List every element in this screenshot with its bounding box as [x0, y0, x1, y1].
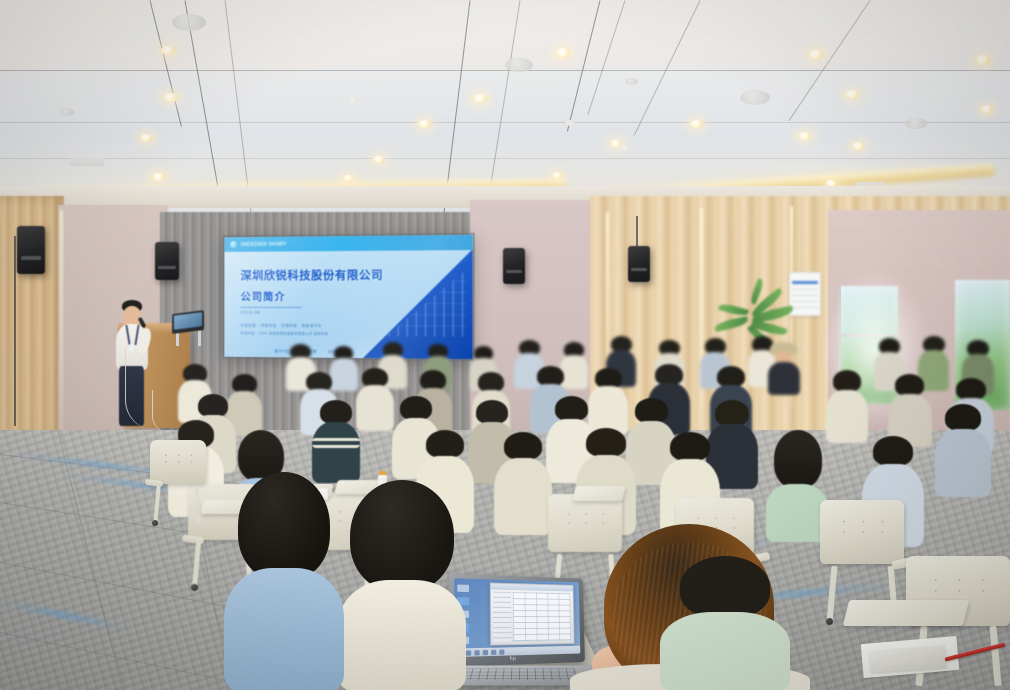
ceiling-downlight	[975, 55, 991, 65]
podium-cable	[152, 390, 168, 432]
attendee	[494, 432, 552, 534]
tablet-arm-desk	[572, 486, 626, 501]
ceiling-downlight	[163, 93, 179, 102]
attendee	[312, 400, 360, 482]
ceiling-downlight	[343, 175, 354, 182]
wall-speaker	[503, 248, 525, 284]
ceiling-speaker	[740, 90, 770, 105]
speaker-cable	[14, 236, 16, 426]
attendee-foreground-right	[660, 556, 790, 690]
taskbar-icon[interactable]	[499, 649, 504, 654]
ceiling-downlight	[160, 46, 176, 55]
notice-text-lines	[792, 289, 817, 309]
tablet-arm-desk	[843, 600, 969, 626]
slide-divider	[241, 307, 302, 308]
slide-company-title: 深圳欣锐科技股份有限公司	[241, 267, 384, 283]
spreadsheet-window[interactable]	[490, 582, 575, 645]
slide-header-bar: SHENZHEN SHINRY	[224, 235, 473, 252]
attendee-blue-shirt	[224, 472, 344, 690]
attendee-hair	[350, 480, 454, 592]
attendee	[826, 370, 868, 442]
laptop-display	[454, 578, 580, 657]
training-chair	[150, 440, 206, 528]
wall-light-strip	[60, 210, 63, 440]
attendee	[766, 430, 828, 540]
ceiling-downlight	[152, 173, 166, 181]
ceiling-downlight	[140, 134, 153, 142]
foreground-attendee-left	[338, 480, 466, 690]
window-sidebar[interactable]	[493, 592, 511, 642]
speaker-cable	[636, 216, 638, 248]
wall-speaker	[155, 242, 179, 280]
lectern-laptop	[172, 312, 204, 332]
presenter-head	[123, 306, 141, 326]
ceiling-downlight	[555, 48, 571, 58]
ceiling-downlight	[373, 156, 385, 163]
attendee-hair	[238, 472, 330, 580]
wall-speaker	[17, 226, 45, 274]
ceiling-downlight	[418, 120, 431, 128]
ceiling-downlight	[620, 145, 629, 151]
ceiling-downlight	[473, 94, 488, 103]
wall-speaker	[628, 246, 650, 282]
taskbar-icon[interactable]	[474, 650, 479, 655]
attendee-long-hair	[774, 430, 822, 488]
ceiling-downlight	[808, 50, 824, 60]
ceiling-speaker	[172, 14, 206, 31]
bottle-cap	[379, 471, 386, 475]
lectern-support	[198, 330, 201, 346]
smoke-detector	[60, 108, 74, 116]
ceiling-downlight	[552, 172, 563, 179]
windows-taskbar[interactable]	[454, 646, 580, 657]
slide-meta-line-1: 欣锐控股 · 欣锐科技 · 欣锐科技 · 新能源汽车	[241, 324, 322, 329]
taskbar-icon[interactable]	[466, 650, 471, 655]
conference-room-photo: SHENZHEN SHINRY 深圳欣锐科技股份有限公司 公司简介 2024.0…	[0, 0, 1010, 690]
attendee	[356, 368, 394, 430]
projected-slide: SHENZHEN SHINRY 深圳欣锐科技股份有限公司 公司简介 2024.0…	[224, 235, 473, 360]
laptop-lid	[448, 574, 585, 667]
spreadsheet-grid[interactable]	[513, 592, 571, 641]
attendee	[935, 404, 991, 496]
smoke-detector	[625, 78, 638, 85]
company-logo-icon	[230, 241, 237, 248]
ceiling-speaker	[505, 58, 533, 72]
taskbar-icon[interactable]	[483, 649, 488, 654]
slide-subtitle: 公司简介	[241, 289, 286, 304]
slide-date: 2024.08	[241, 310, 261, 315]
ceiling-downlight	[798, 132, 812, 140]
ceiling-air-vent	[70, 157, 104, 166]
hp-brand-logo: hp	[510, 656, 517, 662]
taskbar-icon[interactable]	[491, 649, 496, 654]
ceiling-downlight	[565, 120, 575, 126]
ceiling-downlight	[348, 98, 358, 104]
ceiling-downlight	[690, 120, 703, 128]
attendee-with-cap	[768, 342, 800, 394]
attendee-hair	[680, 556, 770, 618]
projection-screen: SHENZHEN SHINRY 深圳欣锐科技股份有限公司 公司简介 2024.0…	[224, 235, 473, 360]
notice-band	[792, 281, 818, 285]
smoke-detector	[905, 118, 927, 129]
laptop-keyboard[interactable]	[453, 669, 578, 680]
ceiling-downlight	[980, 105, 994, 114]
slide-meta-line-2: 欣锐科技 · 2024 深圳欣锐科技股份有限公司 版权所有	[241, 330, 329, 335]
company-logo-text: SHENZHEN SHINRY	[241, 241, 287, 247]
ceiling-downlight	[852, 142, 865, 150]
ceiling-downlight	[845, 90, 860, 99]
window-titlebar[interactable]	[491, 583, 573, 591]
